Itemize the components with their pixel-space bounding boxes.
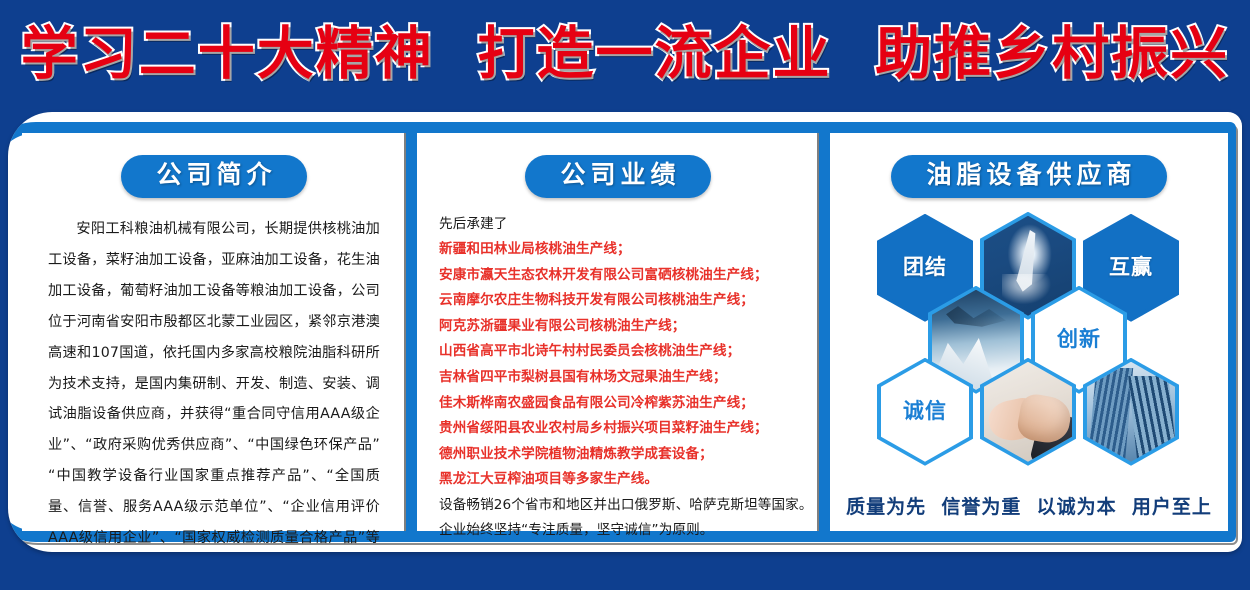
panel-divider-1 [406, 133, 417, 531]
panel-company-performance: 公司业绩 先后承建了 新疆和田林业局核桃油生产线； 安康市瀛天生态农林开发有限公… [417, 133, 819, 531]
office-tower-photo [1087, 362, 1175, 462]
performance-intro: 先后承建了 [439, 212, 819, 238]
panel3-heading: 油脂设备供应商 [891, 155, 1166, 198]
title-band: 学习二十大精神 打造一流企业 助推乡村振兴 [0, 0, 1250, 108]
supplier-tagline: 质量为先 信誉为重 以诚为本 用户至上 [830, 492, 1228, 519]
panel-company-profile: 公司简介 安阳工科粮油机械有限公司，长期提供核桃油加工设备，菜籽油加工设备，亚麻… [22, 133, 406, 531]
performance-footer-line: 设备畅销26个省市和地区并出口俄罗斯、哈萨克斯坦等国家。 [439, 493, 819, 519]
suit-sleeve-shape [1029, 410, 1072, 462]
hexagon-label: 创新 [1057, 329, 1101, 350]
hexagon-cluster: 团结 互赢 [859, 212, 1199, 430]
hexagon-photo-fill [984, 362, 1072, 462]
project-item: 贵州省绥阳县农业农村局乡村振兴项目菜籽油生产线； [439, 416, 819, 442]
panel-row: 公司简介 安阳工科粮油机械有限公司，长期提供核桃油加工设备，菜籽油加工设备，亚麻… [22, 133, 1228, 531]
panel2-heading: 公司业绩 [525, 155, 710, 198]
project-item: 吉林省四平市梨树县国有林场文冠果油生产线； [439, 365, 819, 391]
hexagon-photo-fill [1087, 362, 1175, 462]
project-item: 阿克苏浙疆果业有限公司核桃油生产线； [439, 314, 819, 340]
project-item: 佳木斯桦南农盛园食品有限公司冷榨紫苏油生产线； [439, 391, 819, 417]
content-frame: 公司简介 安阳工科粮油机械有限公司，长期提供核桃油加工设备，菜籽油加工设备，亚麻… [8, 112, 1242, 552]
project-item: 山西省高平市北诗午村村民委员会核桃油生产线； [439, 339, 819, 365]
performance-body: 先后承建了 新疆和田林业局核桃油生产线； 安康市瀛天生态农林开发有限公司富硒核桃… [439, 212, 819, 544]
project-item: 新疆和田林业局核桃油生产线； [439, 237, 819, 263]
poster-canvas: 学习二十大精神 打造一流企业 助推乡村振兴 公司简介 安阳工科粮油机械有限公司，… [0, 0, 1250, 590]
project-item: 云南摩尔农庄生物科技开发有限公司核桃油生产线； [439, 288, 819, 314]
performance-footer-line: 企业始终坚持“专注质量，坚守诚信”为原则。 [439, 518, 819, 544]
handshake-photo [984, 362, 1072, 462]
hexagon-label: 诚信 [903, 401, 947, 422]
panel-equipment-supplier: 油脂设备供应商 团结 互赢 [830, 133, 1228, 531]
company-profile-paragraph: 安阳工科粮油机械有限公司，长期提供核桃油加工设备，菜籽油加工设备，亚麻油加工设备… [48, 214, 380, 552]
panel1-heading: 公司简介 [121, 155, 306, 198]
hexagon-label: 互赢 [1109, 257, 1153, 278]
project-item: 黑龙江大豆榨油项目等多家生产线。 [439, 467, 819, 493]
project-item: 德州职业技术学院植物油精炼教学成套设备； [439, 442, 819, 468]
hexagon-fill: 诚信 [881, 362, 969, 462]
poster-title: 学习二十大精神 打造一流企业 助推乡村振兴 [21, 26, 1229, 83]
project-item: 安康市瀛天生态农林开发有限公司富硒核桃油生产线； [439, 263, 819, 289]
panel-divider-2 [819, 133, 830, 531]
hexagon-label: 团结 [903, 257, 947, 278]
